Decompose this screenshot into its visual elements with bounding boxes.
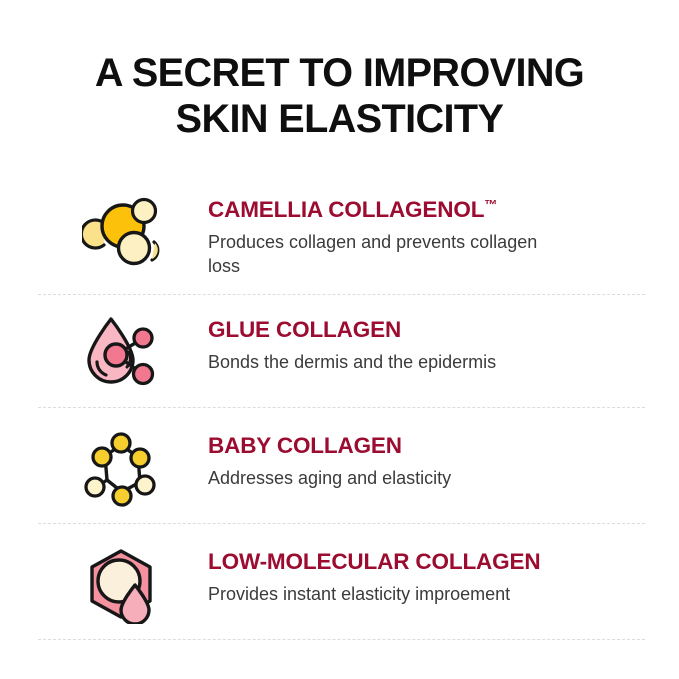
feature-icon-cell	[38, 426, 208, 508]
feature-description: Addresses aging and elasticity	[208, 466, 628, 490]
feature-description: Produces collagen and prevents collagen …	[208, 230, 538, 278]
collagen-bubbles-icon	[82, 194, 164, 268]
feature-title: CAMELLIA COLLAGENOL™	[208, 192, 645, 223]
feature-icon-cell	[38, 190, 208, 268]
list-item: BABY COLLAGEN Addresses aging and elasti…	[38, 408, 645, 524]
trademark-symbol: ™	[484, 197, 497, 212]
feature-description: Provides instant elasticity improement	[208, 582, 628, 606]
feature-title-text: BABY COLLAGEN	[208, 433, 402, 458]
page-title-line-1: A SECRET TO IMPROVING	[3, 50, 675, 96]
list-item: LOW-MOLECULAR COLLAGEN Provides instant …	[38, 524, 645, 640]
droplet-molecule-icon	[83, 314, 163, 390]
list-item: GLUE COLLAGEN Bonds the dermis and the e…	[38, 295, 645, 408]
feature-title: BABY COLLAGEN	[208, 428, 645, 459]
hexagon-droplet-icon	[83, 546, 163, 624]
feature-title: LOW-MOLECULAR COLLAGEN	[208, 544, 645, 575]
list-item: CAMELLIA COLLAGENOL™ Produces collagen a…	[38, 172, 645, 295]
feature-text-cell: CAMELLIA COLLAGENOL™ Produces collagen a…	[208, 190, 645, 278]
feature-description: Bonds the dermis and the epidermis	[208, 350, 628, 374]
feature-title-text: CAMELLIA COLLAGENOL	[208, 197, 484, 222]
feature-title-text: GLUE COLLAGEN	[208, 317, 401, 342]
feature-text-cell: LOW-MOLECULAR COLLAGEN Provides instant …	[208, 542, 645, 606]
feature-list: CAMELLIA COLLAGENOL™ Produces collagen a…	[38, 172, 645, 640]
infographic-panel: A SECRET TO IMPROVING SKIN ELASTICITY CA…	[0, 0, 679, 679]
page-title: A SECRET TO IMPROVING SKIN ELASTICITY	[0, 0, 679, 142]
feature-text-cell: BABY COLLAGEN Addresses aging and elasti…	[208, 426, 645, 490]
feature-icon-cell	[38, 542, 208, 624]
feature-title: GLUE COLLAGEN	[208, 312, 645, 343]
feature-title-text: LOW-MOLECULAR COLLAGEN	[208, 549, 540, 574]
page-title-line-2: SKIN ELASTICITY	[3, 96, 675, 142]
feature-text-cell: GLUE COLLAGEN Bonds the dermis and the e…	[208, 310, 645, 374]
molecule-lattice-icon	[83, 430, 163, 508]
feature-icon-cell	[38, 310, 208, 390]
